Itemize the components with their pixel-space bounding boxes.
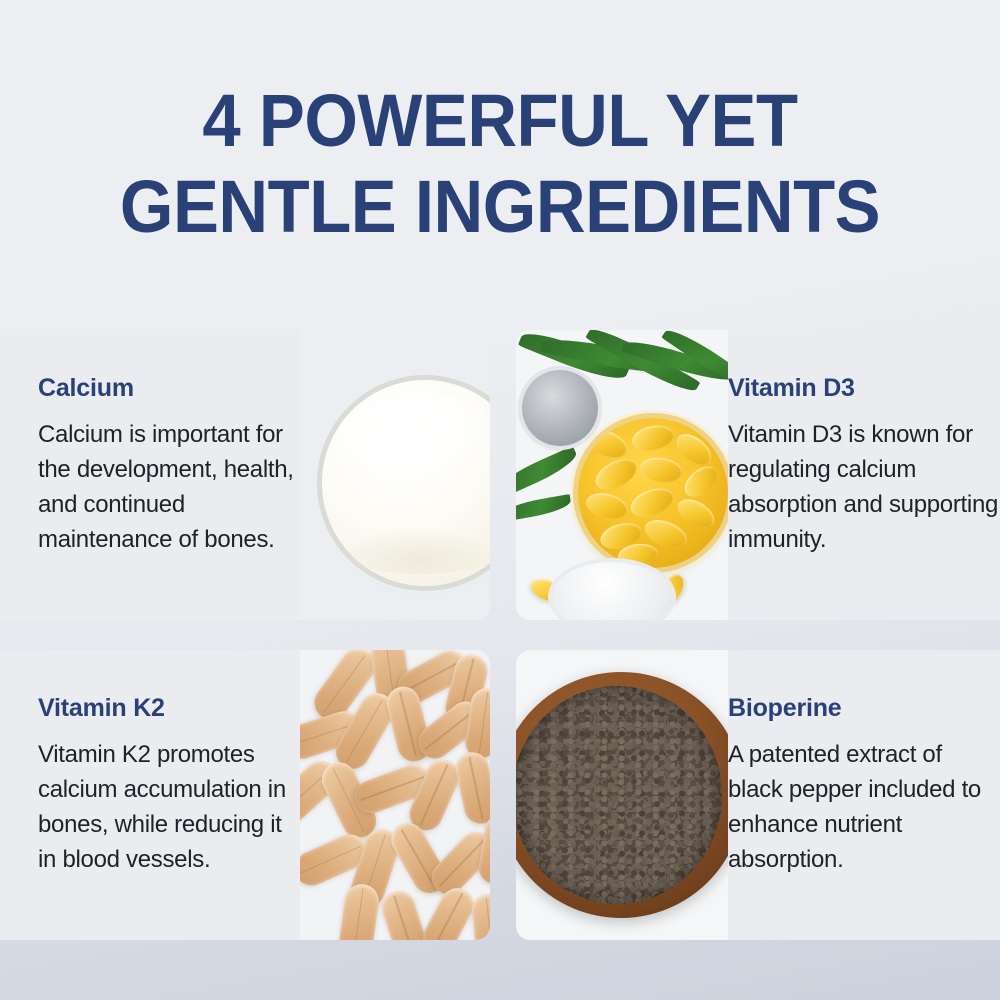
wooden-bowl-shape — [516, 672, 728, 918]
second-jar-shape — [552, 562, 672, 620]
card-title-vitamin-d3: Vitamin D3 — [728, 373, 1000, 403]
card-title-bioperine: Bioperine — [728, 693, 1000, 723]
ingredient-card-vitamin-d3: Vitamin D3 Vitamin D3 is known for regul… — [516, 330, 1000, 620]
glass-of-milk-image — [300, 330, 490, 620]
jar-lid-shape — [522, 370, 598, 446]
peppercorns-fill — [516, 686, 722, 904]
ingredient-card-grid: Calcium Calcium is important for the dev… — [0, 330, 1000, 942]
card-title-vitamin-k2: Vitamin K2 — [38, 693, 300, 723]
page-title-line-2: GENTLE INGREDIENTS — [35, 164, 965, 250]
card-text-bioperine: Bioperine A patented extract of black pe… — [728, 650, 1000, 940]
ingredient-card-bioperine: Bioperine A patented extract of black pe… — [516, 650, 1000, 940]
card-body-calcium: Calcium is important for the development… — [38, 417, 300, 557]
softgel-jar-image — [516, 330, 728, 620]
card-body-vitamin-d3: Vitamin D3 is known for regulating calci… — [728, 417, 1000, 557]
ingredient-card-calcium: Calcium Calcium is important for the dev… — [0, 330, 490, 620]
ingredient-card-vitamin-k2: Vitamin K2 Vitamin K2 promotes calcium a… — [0, 650, 490, 940]
card-body-bioperine: A patented extract of black pepper inclu… — [728, 737, 1000, 877]
page-title: 4 POWERFUL YET GENTLE INGREDIENTS — [35, 78, 965, 250]
palm-leaf-icon — [516, 446, 580, 498]
card-text-vitamin-d3: Vitamin D3 Vitamin D3 is known for regul… — [728, 330, 1000, 620]
tan-capsules-image — [300, 650, 490, 940]
card-title-calcium: Calcium — [38, 373, 300, 403]
card-text-vitamin-k2: Vitamin K2 Vitamin K2 promotes calcium a… — [0, 650, 300, 940]
softgel-jar-shape — [578, 418, 728, 568]
page-title-line-1: 4 POWERFUL YET — [35, 78, 965, 164]
palm-leaf-icon — [516, 494, 572, 522]
milk-glass-shape — [322, 380, 490, 586]
card-body-vitamin-k2: Vitamin K2 promotes calcium accumulation… — [38, 737, 300, 877]
peppercorn-bowl-image — [516, 650, 728, 940]
card-text-calcium: Calcium Calcium is important for the dev… — [0, 330, 300, 620]
